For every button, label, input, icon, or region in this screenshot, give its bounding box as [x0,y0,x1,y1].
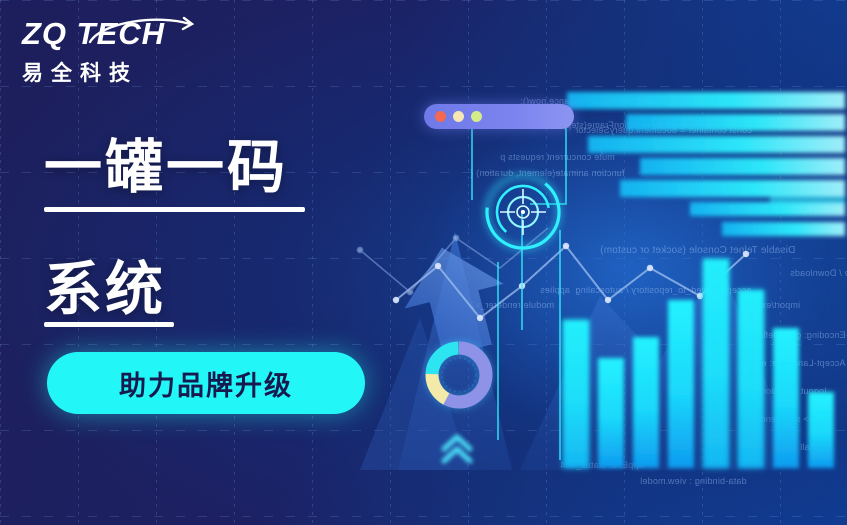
logo-wordmark: ZQ TECH [22,14,202,54]
close-dot-icon[interactable] [435,111,446,122]
headline-rule-1 [44,207,305,212]
brand-logo[interactable]: ZQ TECH 易全科技 [22,14,202,87]
promo-banner: function animate(element, duration) { co… [0,0,847,525]
headline-rule-2 [44,322,174,327]
browser-window-titlebar[interactable] [424,104,574,129]
logo-mark: ZQ TECH [22,14,202,54]
minimize-dot-icon[interactable] [453,111,464,122]
cta-button-label: 助力品牌升级 [119,364,293,403]
radar-target-icon [472,161,573,262]
logo-chinese-name: 易全科技 [22,57,202,87]
maximize-dot-icon[interactable] [471,111,482,122]
cta-button[interactable]: 助力品牌升级 [47,352,365,414]
headline-line-1: 一罐一码 [44,138,288,196]
headline-line-2: 系统 [44,260,166,318]
horizontal-bar-chart [567,92,845,236]
